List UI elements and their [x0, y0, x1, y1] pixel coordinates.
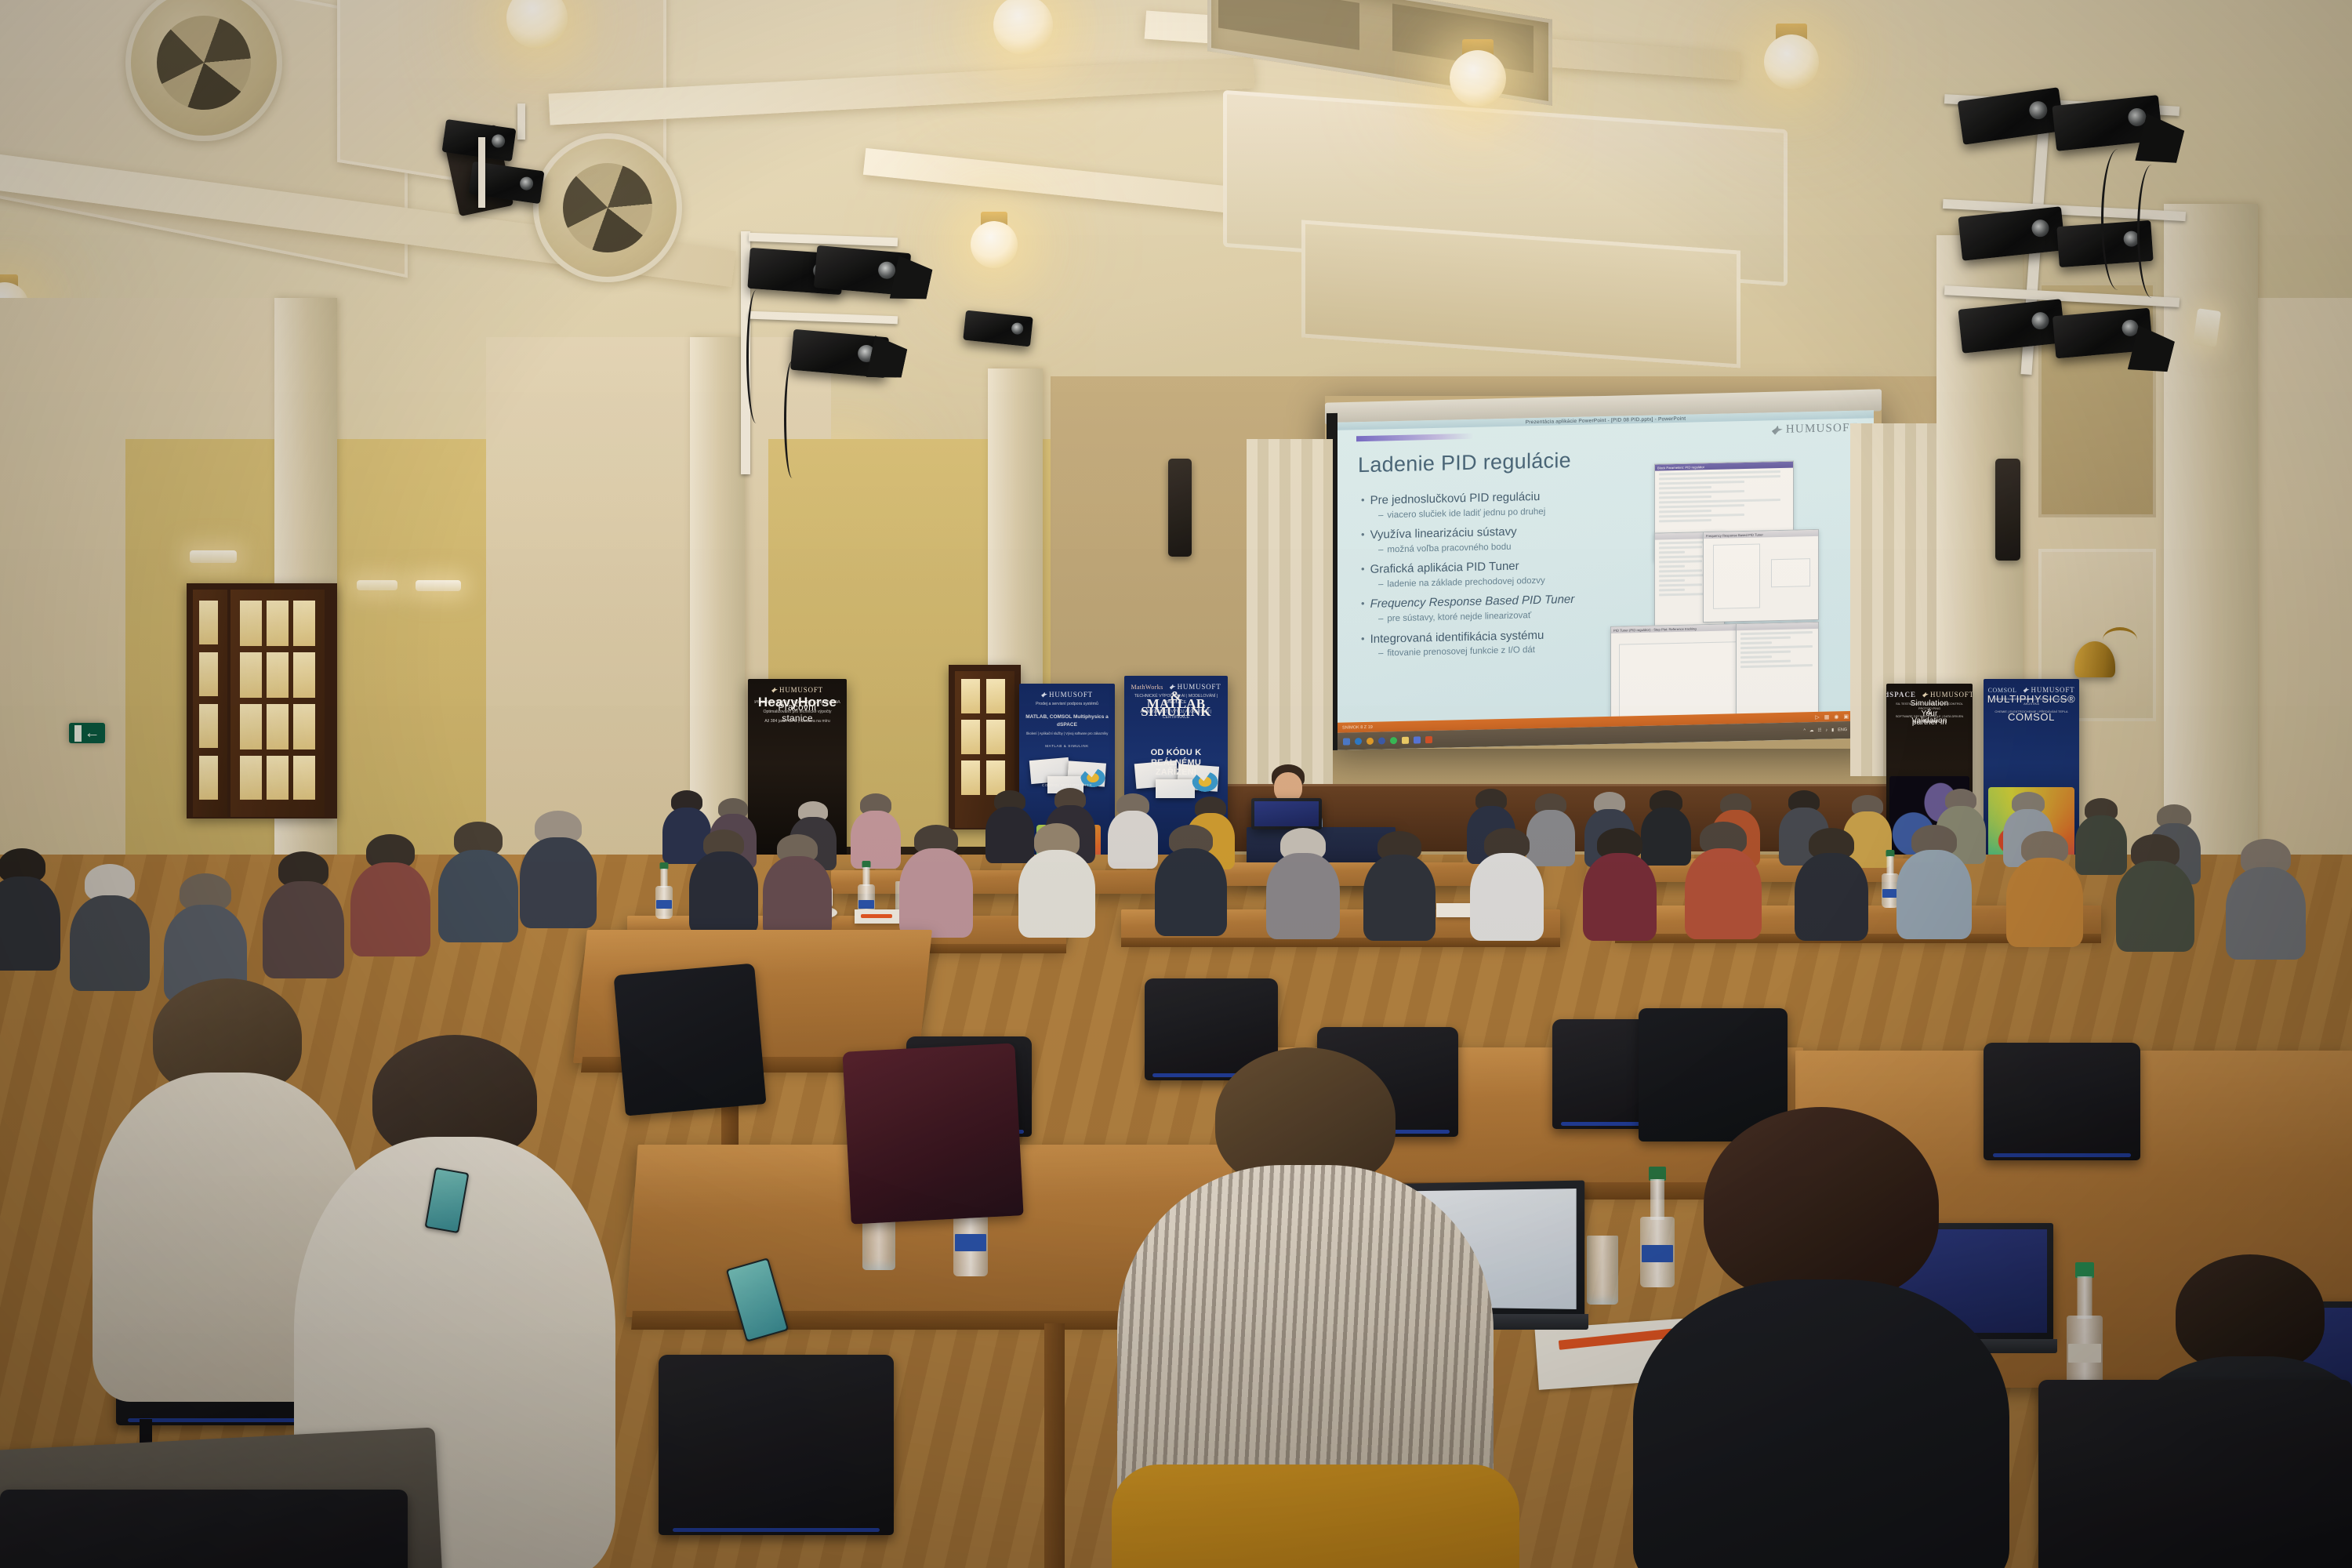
attendee: [764, 834, 831, 935]
chrome-icon[interactable]: [1367, 737, 1374, 744]
banner-footer: OD KÓDU K REÁLNÉMU ZAŘÍZENÍ: [1150, 748, 1202, 778]
bullet-dot-icon: •: [1361, 528, 1365, 543]
banner-tiny: Školení | Aplikační služby | Vývoj softw…: [1019, 731, 1115, 736]
notes-icon[interactable]: ▦: [1824, 713, 1830, 720]
banner-sub: SIL TESTING | HIL TESTING | RAPID CONTRO…: [1886, 702, 1973, 711]
dash-icon: –: [1378, 614, 1383, 626]
banner-tiny: CHEMIE | ELEKTROCHEMIE | PŘEDÁVÁNÍ TEPLA: [1984, 710, 2079, 714]
banner-sub: Prodej a servisní podpora systémů: [1019, 702, 1115, 708]
door-left-leaf[interactable]: [193, 590, 227, 817]
taskbar-app-icons: [1343, 736, 1432, 746]
network-icon[interactable]: ☷: [1817, 728, 1821, 733]
humusoft-bird-icon: [1772, 425, 1783, 434]
door-right-leaf[interactable]: [230, 590, 325, 817]
attendee: [0, 848, 60, 967]
attendee: [900, 825, 972, 935]
slide-canvas: Prezentácia aplikácie PowerPoint - [PID …: [1338, 410, 1874, 750]
attendee: [71, 864, 149, 988]
attendee: [1019, 823, 1094, 935]
comment-icon[interactable]: ▷: [1815, 713, 1819, 720]
pendant-light: [956, 212, 1032, 298]
humusoft-logo: HUMUSOFT: [771, 686, 823, 694]
banner-sub: TECHNICKÉ VÝPOČTY | AI | MODELOVÁNÍ | SI…: [1124, 694, 1228, 706]
humusoft-logo: HUMUSOFT: [1041, 691, 1093, 699]
dash-icon: –: [1378, 510, 1383, 521]
slide-accent-bar: [1356, 434, 1474, 441]
pendant-light: [980, 0, 1066, 78]
whatsapp-icon[interactable]: [1390, 737, 1397, 744]
bullet-dot-icon: •: [1361, 563, 1365, 578]
table: [831, 870, 1160, 894]
banner-logo: dSPACE HUMUSOFT: [1886, 691, 1973, 699]
pilaster: [2164, 204, 2258, 894]
chair[interactable]: [659, 1355, 894, 1535]
attendee: [1156, 825, 1226, 933]
mathworks-logo: MathWorks: [1131, 684, 1163, 691]
humusoft-logo: HUMUSOFT: [1772, 422, 1858, 437]
attendee: [263, 851, 343, 975]
attendee: [1109, 793, 1157, 866]
water-bottle: [2067, 1262, 2103, 1386]
projection-screen: Prezentácia aplikácie PowerPoint - [PID …: [1325, 396, 1882, 749]
wall-lamp: [416, 580, 461, 591]
wall-lamp: [357, 580, 397, 590]
exit-door-icon: [74, 725, 82, 742]
slide-title: Ladenie PID regulácie: [1358, 448, 1571, 477]
start-icon[interactable]: [1343, 738, 1350, 745]
stage-curtain-left: [1247, 439, 1333, 784]
normal-view-icon[interactable]: ▣: [1844, 713, 1849, 719]
dash-icon: –: [1378, 648, 1383, 660]
edge-icon[interactable]: [1355, 738, 1362, 745]
show-hidden-icons[interactable]: ^: [1803, 728, 1806, 733]
draped-coat: [613, 963, 766, 1116]
attendee: [1471, 828, 1543, 938]
attendee: [2227, 839, 2305, 956]
attendee: [1795, 828, 1867, 938]
dark-top: [1633, 1279, 2009, 1568]
dspace-logo: dSPACE: [1886, 691, 1916, 699]
ceiling-vent-icon: [533, 133, 682, 282]
attendee-foreground-right: [1637, 1107, 2005, 1568]
volume-icon[interactable]: ♪: [1825, 728, 1828, 733]
display-icon[interactable]: ◉: [1834, 713, 1838, 720]
arrow-left-icon: ←: [85, 725, 100, 741]
attendee: [1267, 828, 1339, 936]
slide-app-window-freq-tuner: Frequency Response Based PID Tuner: [1703, 529, 1819, 622]
chair[interactable]: [1984, 1043, 2140, 1160]
orange-chair-cover: [1112, 1465, 1519, 1568]
teams-icon[interactable]: [1378, 737, 1385, 744]
attendee: [1584, 828, 1656, 938]
attendee: [851, 793, 900, 866]
attendee: [1897, 825, 1971, 938]
appwin-titlebar: PID Tuner (PID regulátor) - Step Plot: R…: [1611, 624, 1751, 633]
wall-lamp: [190, 550, 237, 563]
banner-sub: Procesory AMD | Výpočetní karty NVIDIA: [748, 699, 847, 706]
banner-headline: MATLAB, COMSOL Multiphysics a dSPACE: [1019, 713, 1115, 729]
dash-icon: –: [1378, 544, 1383, 556]
speaker: [1995, 459, 2020, 561]
pendant-light: [494, 0, 580, 67]
attendee: [351, 834, 430, 953]
draped-coat: [842, 1043, 1023, 1224]
drinking-glass: [1587, 1236, 1618, 1305]
chair[interactable]: [2038, 1380, 2352, 1568]
matlab-icon[interactable]: [1414, 736, 1421, 743]
attendee: [2007, 831, 2082, 944]
attendee: [690, 829, 757, 931]
attendee: [2117, 834, 2194, 949]
appwin-titlebar: Frequency Response Based PID Tuner: [1704, 530, 1818, 539]
chair-foreground[interactable]: [0, 1490, 408, 1568]
language-indicator[interactable]: ENG: [1838, 728, 1847, 732]
attendee: [439, 822, 517, 939]
pendant-light: [1435, 39, 1521, 133]
humusoft-logo: HUMUSOFT: [1922, 691, 1973, 699]
humusoft-bird-icon: [1041, 692, 1047, 698]
bullet-dot-icon: •: [1361, 494, 1365, 509]
banner-sub: ELEKTROMAGNETISMUS | OPTIKA | MECHANIKA …: [1984, 697, 2079, 706]
attendee: [1364, 831, 1435, 938]
battery-icon[interactable]: ▮: [1831, 728, 1834, 732]
banner-tiny: SOFTWARE DEFINED VEHICLE | DATA DRIVEN D…: [1886, 714, 1973, 724]
dash-icon: –: [1378, 579, 1383, 590]
bullet-dot-icon: •: [1361, 632, 1365, 647]
banner-logo: HUMUSOFT: [1019, 691, 1115, 699]
banner-tiny2: Až 384 jader CPU | Sestava na míru: [748, 719, 847, 725]
water-bottle: [655, 862, 673, 919]
pendant-light: [1748, 24, 1835, 118]
bullet-dot-icon: •: [1361, 597, 1365, 612]
orange-pen: [861, 914, 892, 918]
humusoft-bird-icon: [1922, 692, 1929, 698]
speaker: [1168, 459, 1192, 557]
banner-caption-1: MATLAB & SIMULINK: [1019, 744, 1115, 750]
powerpoint-icon[interactable]: [1425, 736, 1432, 743]
onedrive-icon[interactable]: ☁: [1809, 728, 1814, 733]
attendee: [521, 811, 596, 925]
attendee: [1686, 822, 1761, 936]
conference-hall-photo: ← Prezentácia aplikácie PowerPoint - [PI…: [0, 0, 2352, 1568]
emergency-exit-sign: ←: [69, 723, 105, 743]
banner-logo: HUMUSOFT: [748, 686, 847, 694]
banner-tiny: ANALÝZA DAT | VÝVOJ ALGORITMŮ | CERTIFIK…: [1124, 710, 1228, 722]
humusoft-bird-icon: [2024, 688, 2030, 693]
appwin-titlebar: Block Parameters: PID regulátor: [1655, 462, 1793, 471]
wall-lamp: [2193, 308, 2221, 347]
explorer-icon[interactable]: [1402, 736, 1409, 743]
slide-counter: SNÍMOK 8 Z 19: [1342, 724, 1373, 730]
table-leg: [1044, 1323, 1065, 1568]
banner-tiny: Optimalizováno pro technické výpočty: [748, 710, 847, 716]
slide-bullet-list: •Pre jednoslučkovú PID reguláciu –viacer…: [1361, 488, 1620, 667]
banner-screenshot: [1156, 779, 1195, 798]
humusoft-bird-icon: [771, 688, 778, 693]
